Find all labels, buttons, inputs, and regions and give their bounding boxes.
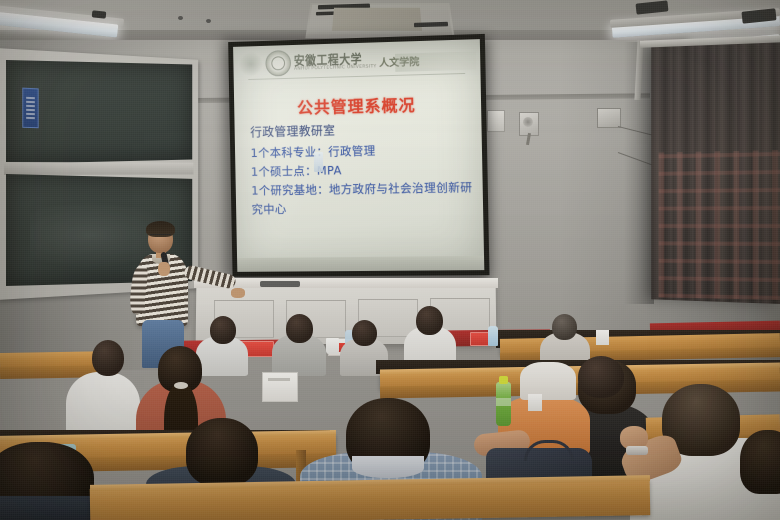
ceiling-fixture-dot: [178, 16, 183, 20]
person-navy-shirt-head: [186, 418, 258, 486]
person-white-shirt-2-head: [92, 340, 124, 376]
slide-title: 公共管理系概况: [234, 90, 481, 120]
bottle-cap-icon: [499, 376, 508, 384]
sign-text-lines: [26, 95, 35, 121]
paper-cup: [326, 338, 339, 354]
watermark-emblem-icon: [238, 52, 264, 76]
glasses-icon: [150, 234, 171, 240]
hair-tie-icon: [174, 382, 188, 389]
person-light-grey-head: [352, 320, 377, 346]
person-orange-shirt-head: [578, 356, 624, 398]
wristwatch-icon: [626, 446, 648, 455]
projection-screen: 安徽工程大学 ANHUI POLYTECHNIC UNIVERSITY 人文学院…: [228, 34, 489, 277]
person-white-tee-head: [416, 306, 443, 335]
ceiling-fixture-dot: [206, 19, 211, 23]
slide-bullet-0: 行政管理教研室: [250, 118, 471, 142]
header-faint-graphic: [395, 51, 476, 72]
glass-on-ledge: [314, 152, 323, 172]
person-foreground-right-head: [740, 430, 780, 494]
paper-cup: [596, 330, 609, 345]
slide-header-band: 安徽工程大学 ANHUI POLYTECHNIC UNIVERSITY 人文学院: [233, 39, 480, 82]
classroom-photo: 安徽工程大学 ANHUI POLYTECHNIC UNIVERSITY 人文学院…: [0, 0, 780, 520]
person-grey-tee-head: [286, 314, 313, 343]
slide-university-subtitle: ANHUI POLYTECHNIC UNIVERSITY: [294, 64, 377, 71]
person-white-shirt-head: [210, 316, 236, 344]
slide-bullet-3: 1个研究基地：地方政府与社会治理创新研: [251, 178, 473, 201]
tissue-box-slot: [268, 378, 290, 381]
blackboard-chalk-rail: [4, 162, 193, 175]
water-bottle: [488, 326, 498, 346]
blackboard-blue-sign: [22, 88, 38, 129]
speaker-cone-icon: [523, 117, 533, 127]
screen-bottom-edge: [237, 256, 484, 272]
presenter-left-hand: [158, 262, 170, 276]
ac-center-panel: [332, 8, 422, 31]
teacher-desk-top: [194, 278, 498, 288]
shirt-collar: [352, 456, 424, 478]
presenter-right-hand: [231, 288, 245, 298]
slide-body: 行政管理教研室 1个本科专业：行政管理 1个硕士点：MPA 1个研究基地：地方政…: [250, 118, 473, 219]
curtain-pattern: [659, 150, 780, 300]
slide-canvas: 安徽工程大学 ANHUI POLYTECHNIC UNIVERSITY 人文学院…: [233, 39, 484, 272]
paper-cup: [528, 394, 542, 411]
light-mount: [92, 10, 107, 18]
person-far-right-head: [552, 314, 577, 340]
tissue-box: [262, 372, 298, 402]
slide-bullet-4: 究中心: [252, 197, 474, 219]
water-bottle: [118, 378, 130, 402]
bottle-label: [496, 398, 511, 406]
desk-object-dark: [260, 281, 300, 287]
